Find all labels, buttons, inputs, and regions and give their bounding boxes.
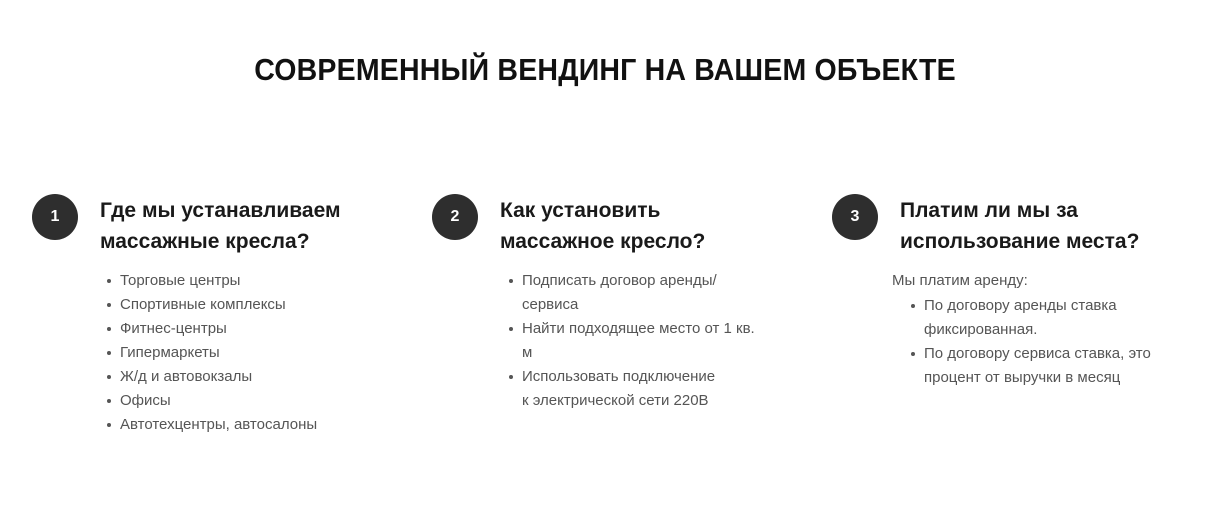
column-1-header: 1 Где мы устанавливаем массажные кресла? xyxy=(32,194,362,257)
list-item-text: Гипермаркеты xyxy=(120,344,220,361)
list-item: Торговые центры xyxy=(120,269,362,293)
column-2-body: Подписать договор аренды/сервиса Найти п… xyxy=(500,269,762,413)
column-3-intro-text: Мы платим аренду: xyxy=(892,269,1162,293)
step-number-badge-1: 1 xyxy=(32,194,78,240)
column-2-bullet-list: Подписать договор аренды/сервиса Найти п… xyxy=(500,269,762,413)
list-item-text: По договору аренды ставка xyxy=(924,297,1117,314)
list-item-text-continued: к электрической сети 220В xyxy=(522,389,762,413)
column-2-header: 2 Как установить массажное кресло? xyxy=(432,194,762,257)
column-1-bullet-list: Торговые центры Спортивные комплексы Фит… xyxy=(100,269,362,437)
step-number-badge-3: 3 xyxy=(832,194,878,240)
list-item-text: Подписать договор аренды/сервиса xyxy=(522,272,717,313)
page-title: СОВРЕМЕННЫЙ ВЕНДИНГ НА ВАШЕМ ОБЪЕКТЕ xyxy=(48,52,1161,88)
list-item-text: По договору сервиса ставка, это xyxy=(924,345,1151,362)
list-item: Использовать подключение к электрической… xyxy=(522,365,762,413)
feature-column-2: 2 Как установить массажное кресло? Подпи… xyxy=(432,194,762,413)
feature-column-3: 3 Платим ли мы за использование места? М… xyxy=(832,194,1162,390)
column-1-body: Торговые центры Спортивные комплексы Фит… xyxy=(100,269,362,437)
list-item: Офисы xyxy=(120,389,362,413)
list-item-text: Ж/д и автовокзалы xyxy=(120,368,252,385)
list-item: Автотехцентры, автосалоны xyxy=(120,413,362,437)
list-item-text: Торговые центры xyxy=(120,272,240,289)
column-1-title: Где мы устанавливаем массажные кресла? xyxy=(100,194,362,257)
column-3-bullet-list: По договору аренды ставка фиксированная.… xyxy=(892,294,1162,390)
list-item: Ж/д и автовокзалы xyxy=(120,365,362,389)
list-item-text: Автотехцентры, автосалоны xyxy=(120,416,317,433)
list-item-text: Найти подходящее место от 1 кв. м xyxy=(522,320,755,361)
column-3-title-line1: Платим ли мы за xyxy=(900,199,1078,222)
list-item-text-continued: процент от выручки в месяц xyxy=(924,366,1162,390)
step-number-badge-2: 2 xyxy=(432,194,478,240)
column-2-title-line1: Как установить xyxy=(500,199,660,222)
column-3-title-line2: использование места? xyxy=(900,230,1139,253)
list-item: Спортивные комплексы xyxy=(120,293,362,317)
feature-column-1: 1 Где мы устанавливаем массажные кресла?… xyxy=(32,194,362,437)
list-item: По договору аренды ставка фиксированная. xyxy=(924,294,1162,342)
column-3-body: Мы платим аренду: По договору аренды ста… xyxy=(892,269,1162,390)
column-2-title-line2: массажное кресло? xyxy=(500,230,705,253)
list-item: По договору сервиса ставка, это процент … xyxy=(924,342,1162,390)
list-item-text: Спортивные комплексы xyxy=(120,296,286,313)
column-3-header: 3 Платим ли мы за использование места? xyxy=(832,194,1162,257)
list-item: Гипермаркеты xyxy=(120,341,362,365)
column-1-title-line2: массажные кресла? xyxy=(100,230,310,253)
feature-columns: 1 Где мы устанавливаем массажные кресла?… xyxy=(0,194,1210,474)
list-item: Фитнес-центры xyxy=(120,317,362,341)
list-item-text-continued: фиксированная. xyxy=(924,318,1162,342)
list-item-text: Фитнес-центры xyxy=(120,320,227,337)
column-2-title: Как установить массажное кресло? xyxy=(500,194,762,257)
list-item: Найти подходящее место от 1 кв. м xyxy=(522,317,762,365)
list-item-text: Использовать подключение xyxy=(522,368,715,385)
column-3-title: Платим ли мы за использование места? xyxy=(900,194,1162,257)
list-item-text: Офисы xyxy=(120,392,171,409)
list-item: Подписать договор аренды/сервиса xyxy=(522,269,762,317)
column-1-title-line1: Где мы устанавливаем xyxy=(100,199,341,222)
